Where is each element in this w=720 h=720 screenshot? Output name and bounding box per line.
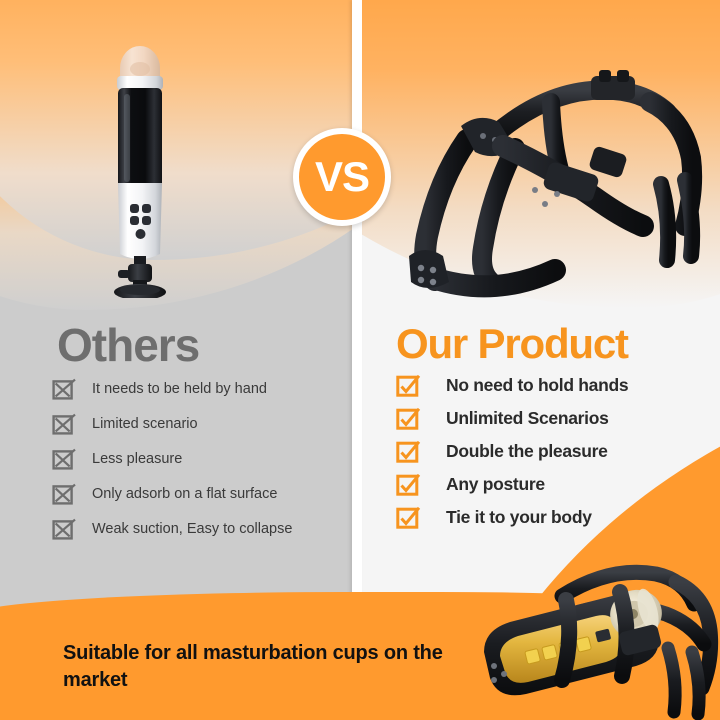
vs-badge-label: VS xyxy=(315,153,369,201)
list-item-label: No need to hold hands xyxy=(446,374,628,396)
list-item: No need to hold hands xyxy=(396,374,696,397)
list-item: It needs to be held by hand xyxy=(52,378,352,401)
bottom-banner-text: Suitable for all masturbation cups on th… xyxy=(63,640,503,694)
check-box-icon xyxy=(396,375,420,397)
list-item-label: It needs to be held by hand xyxy=(92,378,267,400)
x-box-icon xyxy=(52,449,76,471)
list-item: Double the pleasure xyxy=(396,440,696,463)
list-item: Limited scenario xyxy=(52,413,352,436)
check-box-icon xyxy=(396,474,420,496)
list-item-label: Limited scenario xyxy=(92,413,198,435)
list-item-label: Any posture xyxy=(446,473,545,495)
x-box-icon xyxy=(52,484,76,506)
list-item-label: Double the pleasure xyxy=(446,440,608,462)
x-box-icon xyxy=(52,379,76,401)
comparison-infographic: VS Others Our Product It needs to be hel… xyxy=(0,0,720,720)
check-box-icon xyxy=(396,408,420,430)
others-heading: Others xyxy=(57,318,199,372)
check-box-icon xyxy=(396,441,420,463)
others-product-image xyxy=(100,28,180,298)
list-item-label: Weak suction, Easy to collapse xyxy=(92,518,292,540)
our-product-heading: Our Product xyxy=(396,320,628,368)
list-item-label: Unlimited Scenarios xyxy=(446,407,609,429)
check-box-icon xyxy=(396,507,420,529)
vs-badge: VS xyxy=(293,128,391,226)
list-item: Any posture xyxy=(396,473,696,496)
list-item-label: Only adsorb on a flat surface xyxy=(92,483,277,505)
list-item-label: Less pleasure xyxy=(92,448,182,470)
list-item: Less pleasure xyxy=(52,448,352,471)
list-item: Unlimited Scenarios xyxy=(396,407,696,430)
our-product-feature-list: No need to hold hands Unlimited Scenario… xyxy=(396,374,696,539)
bottom-product-image xyxy=(470,552,720,720)
our-product-harness-image xyxy=(395,30,715,310)
others-feature-list: It needs to be held by hand Limited scen… xyxy=(52,378,352,553)
list-item-label: Tie it to your body xyxy=(446,506,592,528)
list-item: Weak suction, Easy to collapse xyxy=(52,518,352,541)
list-item: Tie it to your body xyxy=(396,506,696,529)
x-box-icon xyxy=(52,519,76,541)
x-box-icon xyxy=(52,414,76,436)
list-item: Only adsorb on a flat surface xyxy=(52,483,352,506)
